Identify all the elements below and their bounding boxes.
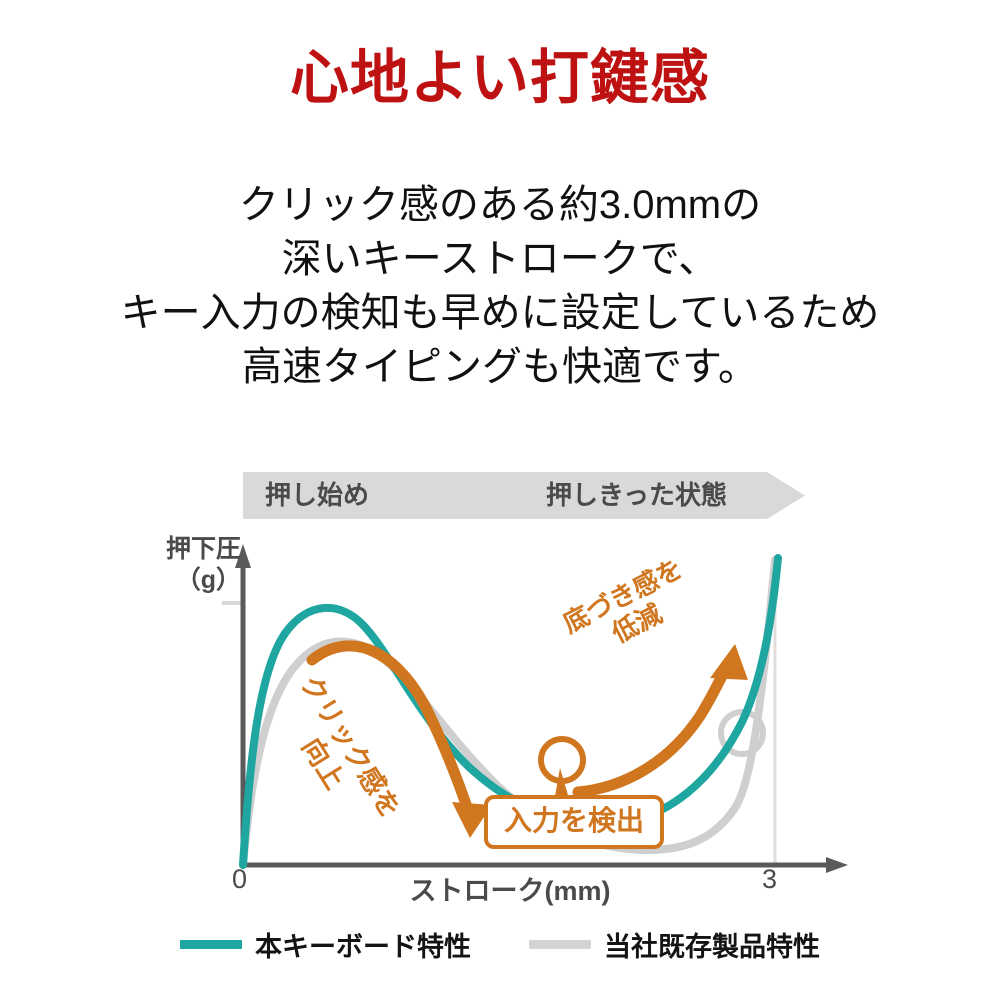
infographic-page: 心地よい打鍵感 クリック感のある約3.0mmの 深いキーストロークで、 キー入力… xyxy=(0,0,1000,1000)
banner-label-start: 押し始め xyxy=(265,472,369,519)
description-line-2: 深いキーストロークで、 xyxy=(0,232,1000,286)
description-text: クリック感のある約3.0mmの 深いキーストロークで、 キー入力の検知も早めに設… xyxy=(0,178,1000,394)
legend-swatch-gray xyxy=(529,940,591,949)
annotation-arrowhead-bottom xyxy=(710,644,748,680)
legend-label-existing-product: 当社既存製品特性 xyxy=(604,925,820,964)
description-line-4: 高速タイピングも快適です。 xyxy=(0,340,1000,394)
description-line-1: クリック感のある約3.0mmの xyxy=(0,178,1000,232)
x-axis-arrowhead xyxy=(826,857,848,873)
page-title: 心地よい打鍵感 xyxy=(0,48,1000,110)
legend-swatch-teal xyxy=(180,940,242,949)
force-curve-chart: 押下圧 （g） ストローク(mm) 0 3 クリック感を 向上 底づき感を 低減… xyxy=(0,520,1000,920)
y-axis-title-line-1: 押下圧 xyxy=(131,534,241,565)
legend-item-existing-product: 当社既存製品特性 xyxy=(529,925,820,964)
x-tick-label-0: 0 xyxy=(232,864,247,895)
banner-label-end: 押しきった状態 xyxy=(546,472,727,519)
x-tick-label-3: 3 xyxy=(762,864,777,895)
legend-item-this-keyboard: 本キーボード特性 xyxy=(180,925,471,964)
x-axis-title: ストローク(mm) xyxy=(330,869,690,908)
callout-input-detected: 入力を検出 xyxy=(484,795,664,849)
y-axis-title: 押下圧 （g） xyxy=(131,534,241,595)
description-line-3: キー入力の検知も早めに設定しているため xyxy=(0,286,1000,340)
marker-input-detect xyxy=(541,739,583,781)
chart-legend: 本キーボード特性 当社既存製品特性 xyxy=(0,925,1000,964)
y-axis-title-line-2: （g） xyxy=(131,565,241,596)
stroke-phase-banner: 押し始め 押しきった状態 xyxy=(243,472,805,519)
legend-label-this-keyboard: 本キーボード特性 xyxy=(255,925,471,964)
